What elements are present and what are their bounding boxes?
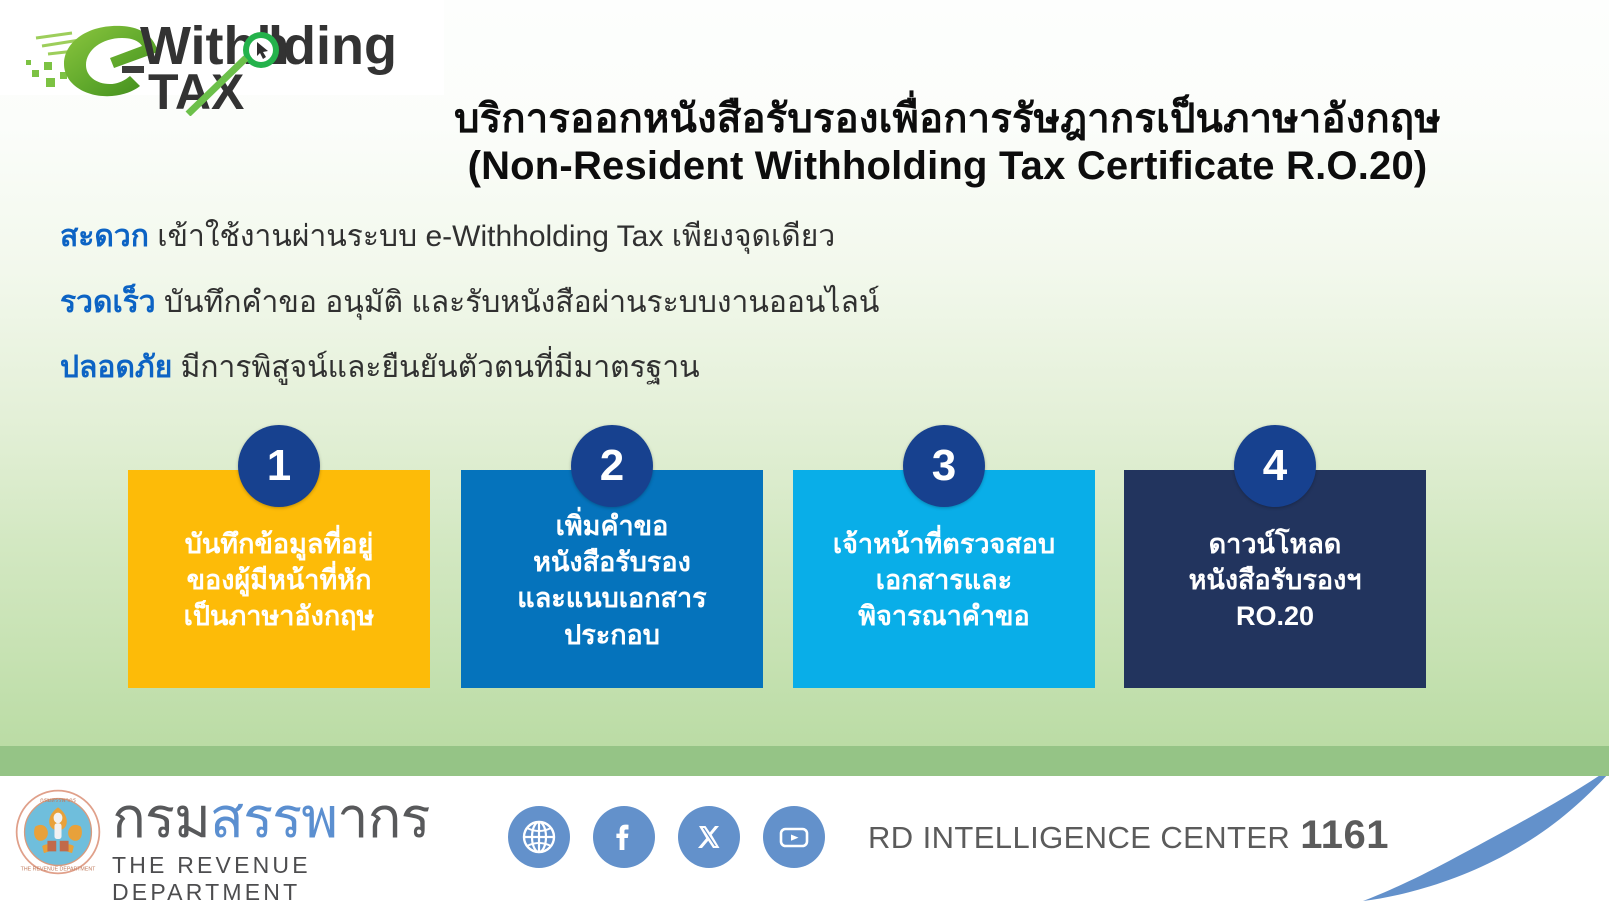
benefit-text-2: บันทึกคำขอ อนุมัติ และรับหนังสือผ่านระบบ… bbox=[156, 286, 880, 319]
org-name-thai-part2: สรรพ bbox=[210, 786, 337, 849]
step-label-4: ดาวน์โหลด หนังสือรับรองฯ RO.20 bbox=[1124, 526, 1426, 635]
swoosh-shape bbox=[1363, 776, 1609, 901]
revenue-department-wordmark: กรมสรรพากร THE REVENUE DEPARTMENT bbox=[112, 790, 482, 903]
step-badge-3: 3 bbox=[903, 425, 985, 507]
org-name-thai-part3: ากร bbox=[337, 786, 429, 849]
poster-root: Withh lding TAX บริการออกหนังสือรับรองเพ… bbox=[0, 0, 1609, 903]
step-label-2: เพิ่มคำขอ หนังสือรับรอง และแนบเอกสาร ประ… bbox=[461, 508, 763, 653]
process-steps: 1 บันทึกข้อมูลที่อยู่ ของผู้มีหน้าที่หัก… bbox=[0, 424, 1609, 724]
x-twitter-icon[interactable] bbox=[678, 806, 740, 868]
title-thai: บริการออกหนังสือรับรองเพื่อการรัษฎากรเป็… bbox=[300, 96, 1595, 143]
step-label-1: บันทึกข้อมูลที่อยู่ ของผู้มีหน้าที่หัก เ… bbox=[128, 526, 430, 635]
step-badge-4: 4 bbox=[1234, 425, 1316, 507]
footer: กรมสรรพากร THE REVENUE DEPARTMENT กรมสรร… bbox=[0, 776, 1609, 903]
org-name-english: THE REVENUE DEPARTMENT bbox=[112, 852, 482, 903]
benefit-keyword-2: รวดเร็ว bbox=[60, 286, 156, 319]
revenue-department-seal-icon: กรมสรรพากร THE REVENUE DEPARTMENT bbox=[14, 788, 102, 876]
logo-dash bbox=[122, 66, 144, 73]
step-badge-1: 1 bbox=[238, 425, 320, 507]
facebook-f-icon bbox=[604, 817, 644, 857]
title-english: (Non-Resident Withholding Tax Certificat… bbox=[300, 143, 1595, 190]
benefits-list: สะดวก เข้าใช้งานผ่านระบบ e-Withholding T… bbox=[60, 218, 1160, 415]
logo-olding-text: lding bbox=[268, 16, 397, 76]
benefit-item-3: ปลอดภัย มีการพิสูจน์และยืนยันตัวตนที่มีม… bbox=[60, 349, 1160, 387]
step-card-1: 1 บันทึกข้อมูลที่อยู่ ของผู้มีหน้าที่หัก… bbox=[128, 470, 430, 688]
benefit-item-1: สะดวก เข้าใช้งานผ่านระบบ e-Withholding T… bbox=[60, 218, 1160, 256]
benefit-keyword-1: สะดวก bbox=[60, 220, 149, 253]
page-title: บริการออกหนังสือรับรองเพื่อการรัษฎากรเป็… bbox=[300, 96, 1595, 190]
benefit-text-1: เข้าใช้งานผ่านระบบ e-Withholding Tax เพี… bbox=[149, 220, 835, 253]
org-name-thai-part1: กรม bbox=[112, 786, 210, 849]
step-card-2: 2 เพิ่มคำขอ หนังสือรับรอง และแนบเอกสาร ป… bbox=[461, 470, 763, 688]
step-card-4: 4 ดาวน์โหลด หนังสือรับรองฯ RO.20 bbox=[1124, 470, 1426, 688]
website-icon[interactable] bbox=[508, 806, 570, 868]
benefit-item-2: รวดเร็ว บันทึกคำขอ อนุมัติ และรับหนังสือ… bbox=[60, 284, 1160, 322]
step-card-3: 3 เจ้าหน้าที่ตรวจสอบ เอกสารและ พิจารณาคำ… bbox=[793, 470, 1095, 688]
svg-text:THE REVENUE DEPARTMENT: THE REVENUE DEPARTMENT bbox=[21, 867, 96, 873]
youtube-icon[interactable] bbox=[763, 806, 825, 868]
green-divider-band bbox=[0, 746, 1609, 776]
facebook-icon[interactable] bbox=[593, 806, 655, 868]
rd-intelligence-center: RD INTELLIGENCE CENTER1161 bbox=[868, 813, 1389, 858]
rdic-label: RD INTELLIGENCE CENTER bbox=[868, 820, 1290, 855]
step-label-3: เจ้าหน้าที่ตรวจสอบ เอกสารและ พิจารณาคำขอ bbox=[793, 526, 1095, 635]
social-links bbox=[508, 806, 825, 868]
x-logo-icon bbox=[689, 817, 729, 857]
decorative-swoosh bbox=[1319, 776, 1609, 903]
org-name-thai: กรมสรรพากร bbox=[112, 790, 482, 846]
benefit-text-3: มีการพิสูจน์และยืนยันตัวตนที่มีมาตรฐาน bbox=[172, 351, 699, 384]
youtube-play-icon bbox=[774, 817, 814, 857]
globe-icon bbox=[519, 817, 559, 857]
svg-text:กรมสรรพากร: กรมสรรพากร bbox=[40, 797, 77, 804]
step-badge-2: 2 bbox=[571, 425, 653, 507]
benefit-keyword-3: ปลอดภัย bbox=[60, 351, 172, 384]
